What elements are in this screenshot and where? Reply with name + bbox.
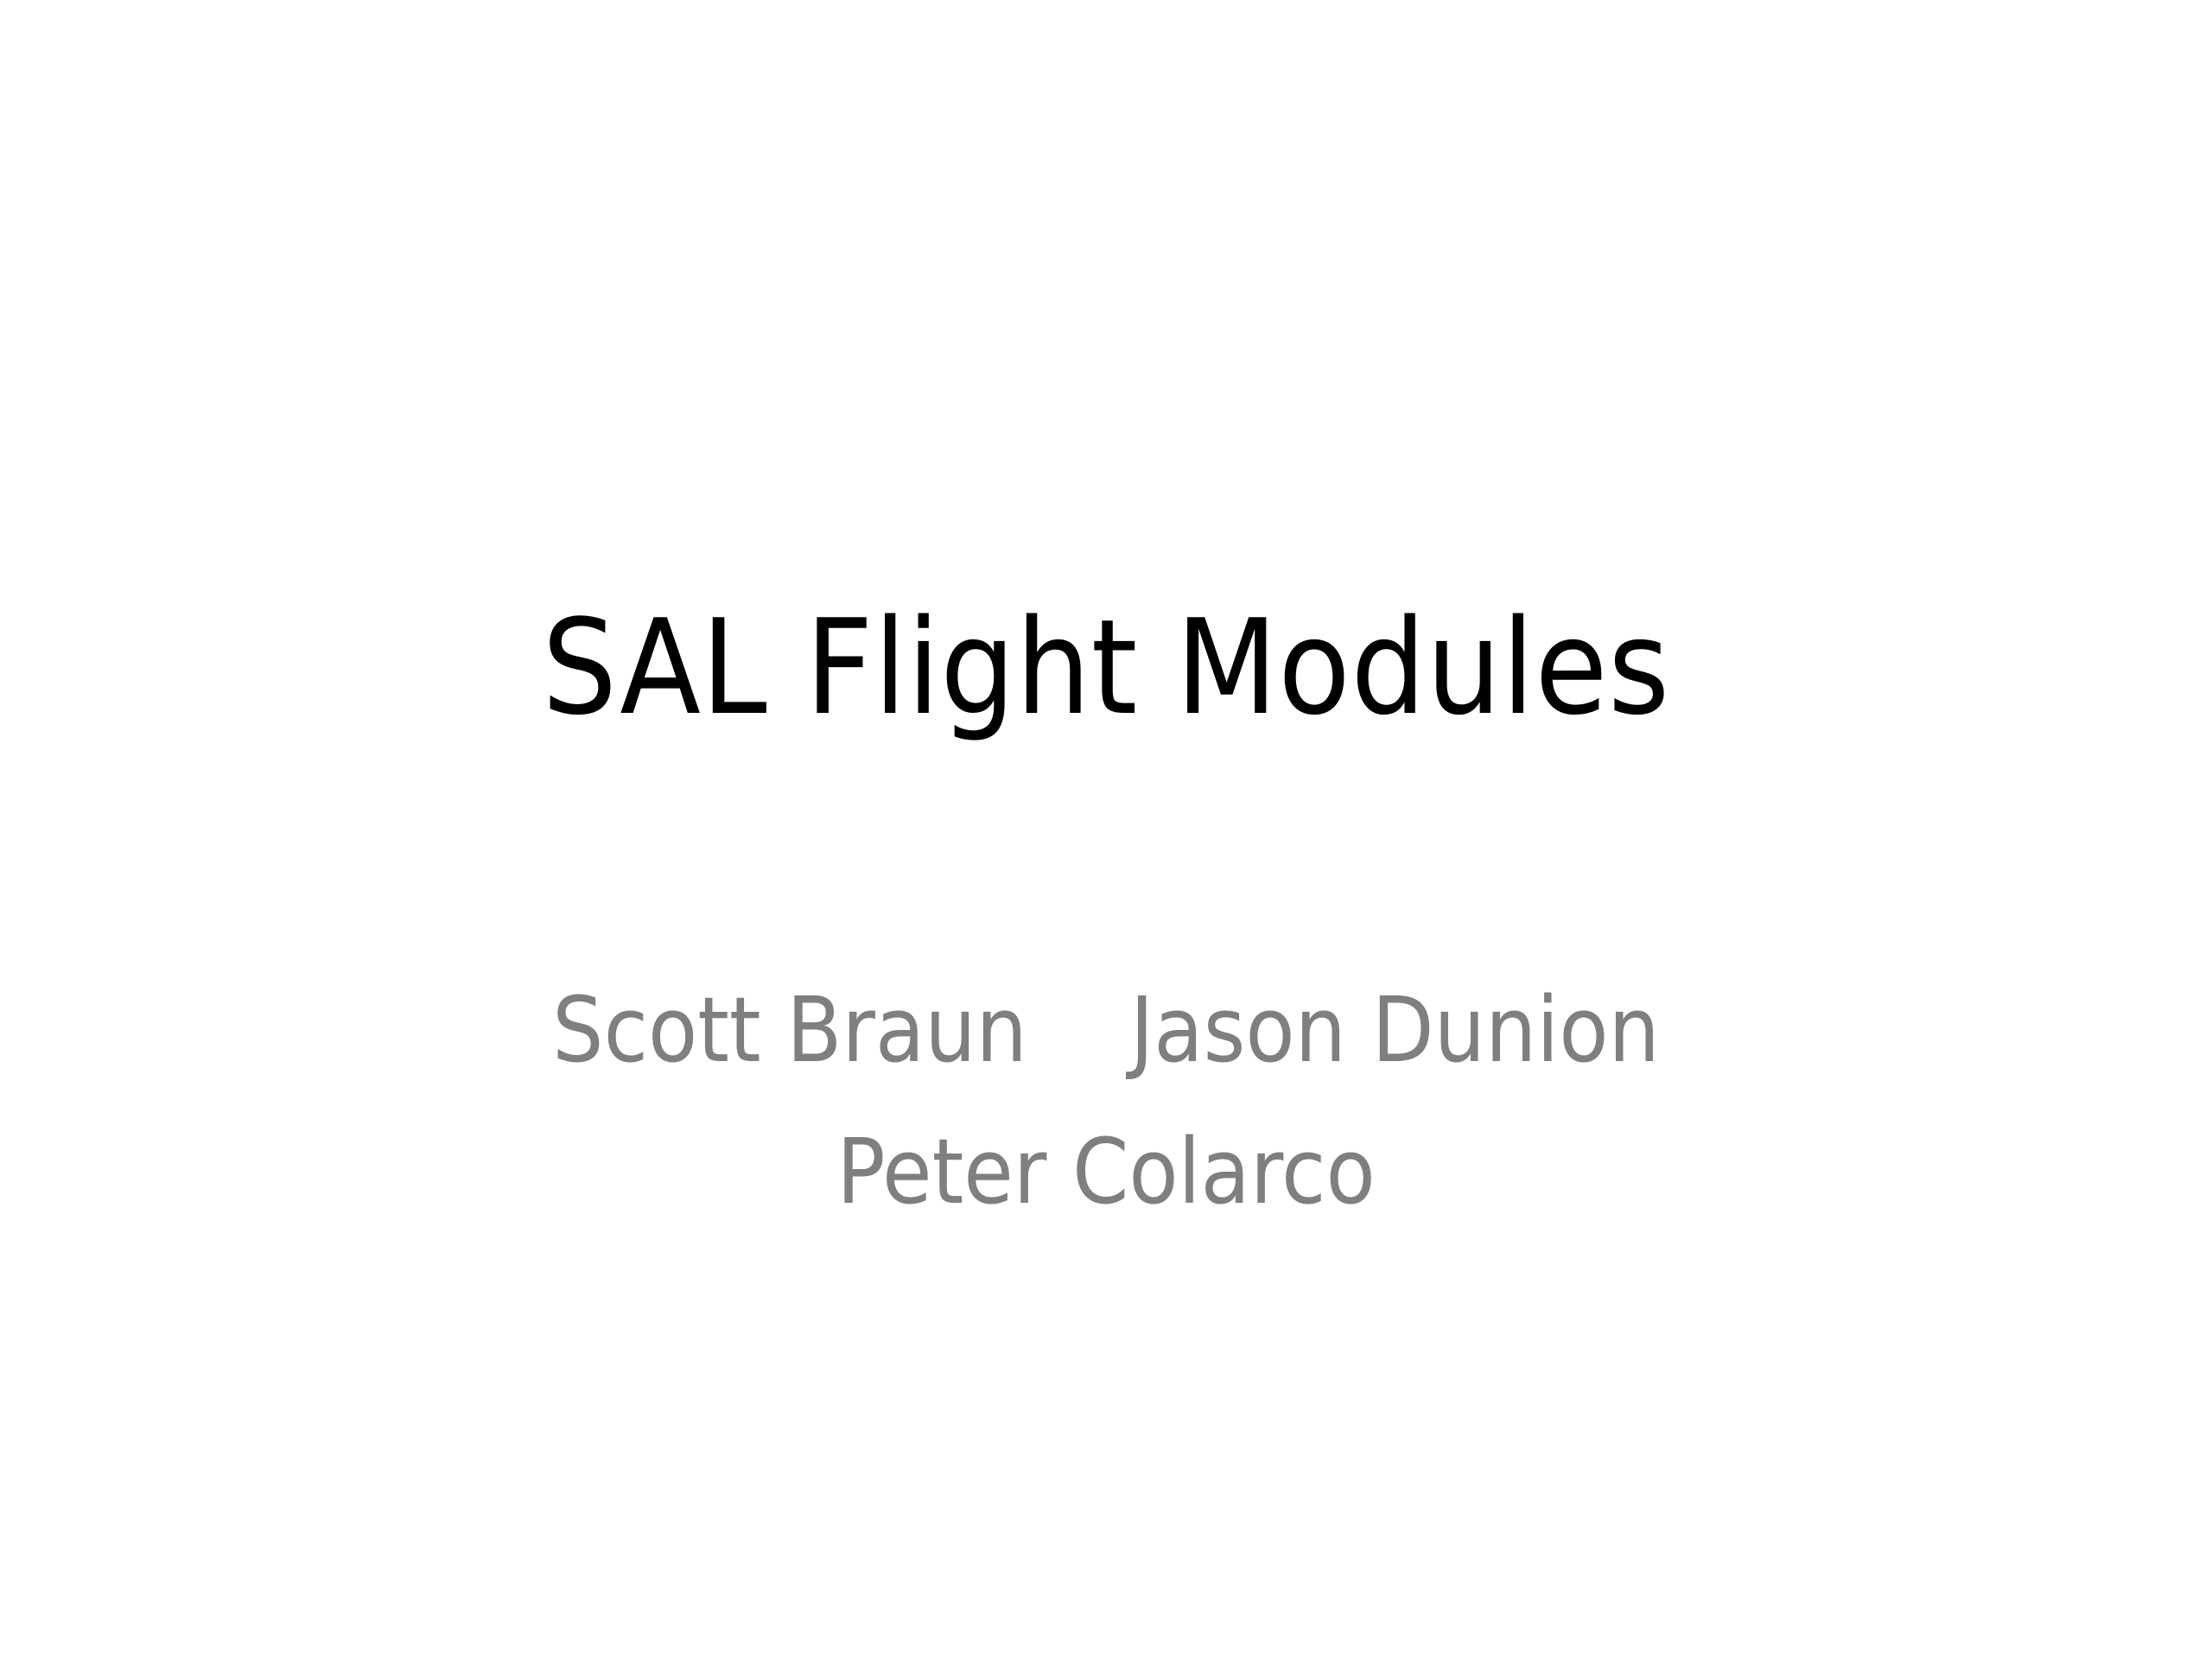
presentation-slide: SAL Flight Modules Scott Braun Jason Dun… [0, 0, 2212, 1659]
subtitle-line-authors-row-1: Scott Braun Jason Dunion [552, 959, 1660, 1101]
slide-title: SAL Flight Modules [542, 594, 1670, 741]
subtitle-line-authors-row-2: Peter Colarco [836, 1101, 1375, 1243]
title-placeholder[interactable]: SAL Flight Modules [221, 594, 1991, 802]
subtitle-placeholder[interactable]: Scott Braun Jason Dunion Peter Colarco [276, 959, 1935, 1236]
